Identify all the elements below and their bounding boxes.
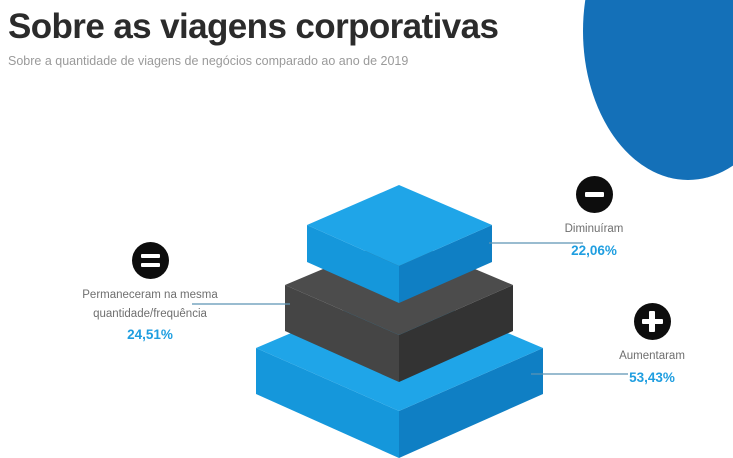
callout-permaneceram-value: 24,51% bbox=[52, 327, 248, 342]
header: Sobre as viagens corporativas Sobre a qu… bbox=[0, 0, 498, 68]
equals-icon bbox=[132, 242, 169, 279]
callout-permaneceram-label-line1: Permaneceram na mesma bbox=[52, 286, 248, 305]
page-subtitle: Sobre a quantidade de viagens de negócio… bbox=[8, 54, 498, 68]
callout-aumentaram-label: Aumentaram bbox=[577, 347, 727, 366]
callout-diminuiram: Diminuíram 22,06% bbox=[519, 176, 669, 258]
minus-icon bbox=[576, 176, 613, 213]
callout-aumentaram: Aumentaram 53,43% bbox=[577, 303, 727, 385]
callout-permaneceram: Permaneceram na mesma quantidade/frequên… bbox=[52, 242, 248, 342]
plus-icon bbox=[634, 303, 671, 340]
page-title: Sobre as viagens corporativas bbox=[8, 6, 498, 47]
callout-aumentaram-value: 53,43% bbox=[577, 370, 727, 385]
callout-permaneceram-label-line2: quantidade/frequência bbox=[52, 305, 248, 324]
callout-diminuiram-label: Diminuíram bbox=[519, 220, 669, 239]
callout-diminuiram-value: 22,06% bbox=[519, 243, 669, 258]
